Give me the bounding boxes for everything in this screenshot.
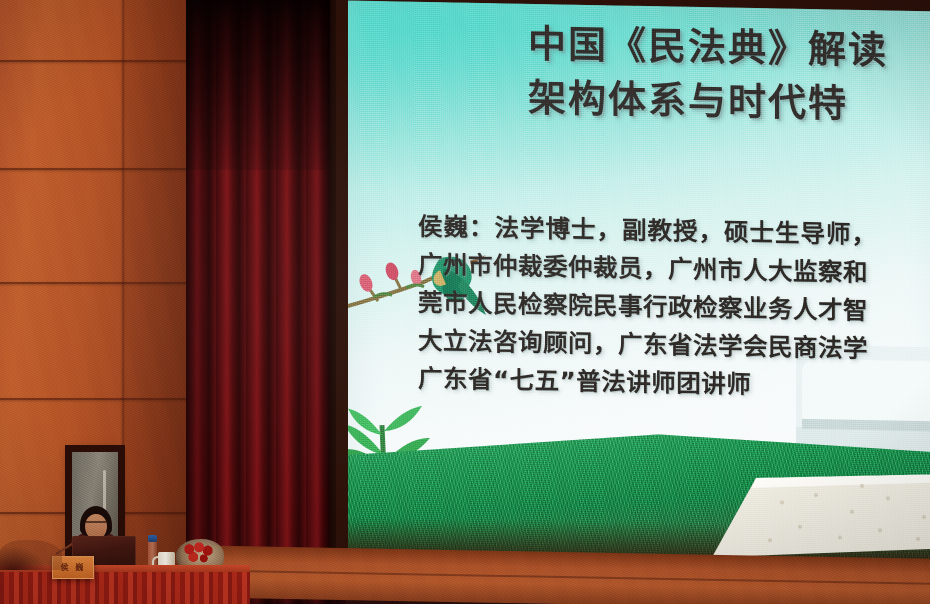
curtain-shadow [186, 0, 346, 170]
eyeglasses-icon [86, 521, 106, 528]
bottle-cap [148, 535, 157, 542]
slide-title: 中国《民法典》解读 架构体系与时代特 [528, 18, 930, 135]
slide-title-line-1: 中国《民法典》解读 [528, 18, 930, 81]
presentation-slide: 中国《民法典》解读 架构体系与时代特 侯巍：法学博士，副教授，硕士生导师， 广州… [348, 1, 930, 564]
speaker-nameplate-text: 侯 巍 [61, 562, 86, 573]
conference-table-skirt [0, 572, 250, 604]
lecture-hall-photo: 中国《民法典》解读 架构体系与时代特 侯巍：法学博士，副教授，硕士生导师， 广州… [0, 0, 930, 604]
foreground-shadow [0, 540, 62, 570]
slide-body: 侯巍：法学博士，副教授，硕士生导师， 广州市仲裁委仲裁员，广州市人大监察和 莞市… [418, 208, 930, 409]
bouquet-roses [182, 542, 215, 566]
slide-title-line-2: 架构体系与时代特 [528, 72, 930, 135]
